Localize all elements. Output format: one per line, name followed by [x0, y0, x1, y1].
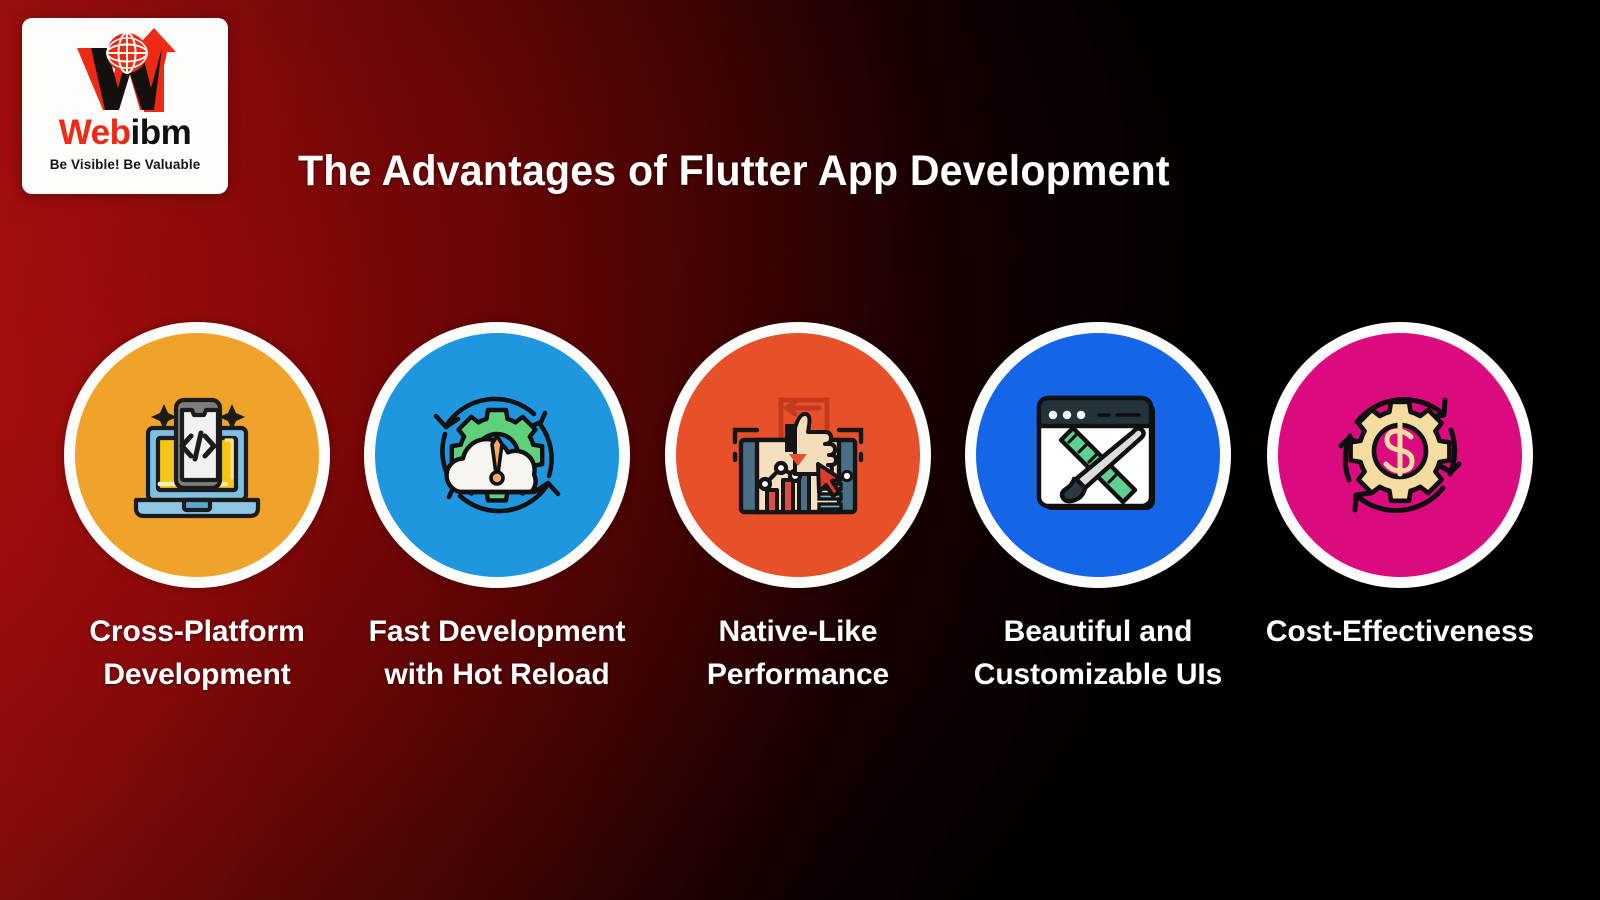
infographic-canvas: Webibm Be Visible! Be Valuable The Advan…	[0, 0, 1600, 900]
icon-ring	[665, 322, 931, 588]
advantage-card-native-like-performance[interactable]: Native-Like Performance	[648, 322, 948, 696]
advantage-card-beautiful-customizable-uis[interactable]: Beautiful and Customizable UIs	[948, 322, 1248, 696]
webibm-logo-mark	[50, 26, 200, 114]
dollar-gear-refresh-icon	[1325, 380, 1475, 530]
logo-word-primary: Web	[59, 113, 131, 152]
advantage-card-fast-development-hot-reload[interactable]: Fast Development with Hot Reload	[347, 322, 647, 696]
logo-wordmark: Webibm	[59, 115, 191, 150]
cloud-gear-speed-refresh-icon	[422, 380, 572, 530]
globe-icon	[107, 33, 147, 73]
advantage-card-label: Cost-Effectiveness	[1250, 610, 1550, 653]
icon-disc	[375, 333, 619, 577]
browser-dots-icon	[1049, 411, 1085, 419]
browser-design-tools-icon	[1023, 380, 1173, 530]
advantage-card-cross-platform-development[interactable]: Cross-Platform Development	[47, 322, 347, 696]
advantage-card-label: Native-Like Performance	[648, 610, 948, 696]
icon-ring	[364, 322, 630, 588]
laptop-phone-code-icon	[122, 380, 272, 530]
advantage-card-cost-effectiveness[interactable]: Cost-Effectiveness	[1250, 322, 1550, 653]
analytics-dashboard-thumbsup-icon	[723, 380, 873, 530]
icon-disc	[676, 333, 920, 577]
icon-disc	[976, 333, 1220, 577]
icon-disc	[75, 333, 319, 577]
icon-disc	[1278, 333, 1522, 577]
icon-ring	[64, 322, 330, 588]
advantage-card-label: Fast Development with Hot Reload	[347, 610, 647, 696]
advantages-card-row: Cross-Platform Development	[0, 322, 1600, 842]
advantage-card-label: Beautiful and Customizable UIs	[948, 610, 1248, 696]
icon-ring	[965, 322, 1231, 588]
webibm-logo-badge[interactable]: Webibm Be Visible! Be Valuable	[22, 18, 228, 194]
laptop-base-icon	[136, 500, 258, 516]
advantage-card-label: Cross-Platform Development	[47, 610, 347, 696]
speedometer-needle-icon	[491, 436, 503, 484]
logo-word-secondary: ibm	[131, 113, 192, 152]
page-title: The Advantages of Flutter App Developmen…	[298, 147, 1170, 196]
logo-tagline: Be Visible! Be Valuable	[50, 157, 201, 172]
icon-ring	[1267, 322, 1533, 588]
